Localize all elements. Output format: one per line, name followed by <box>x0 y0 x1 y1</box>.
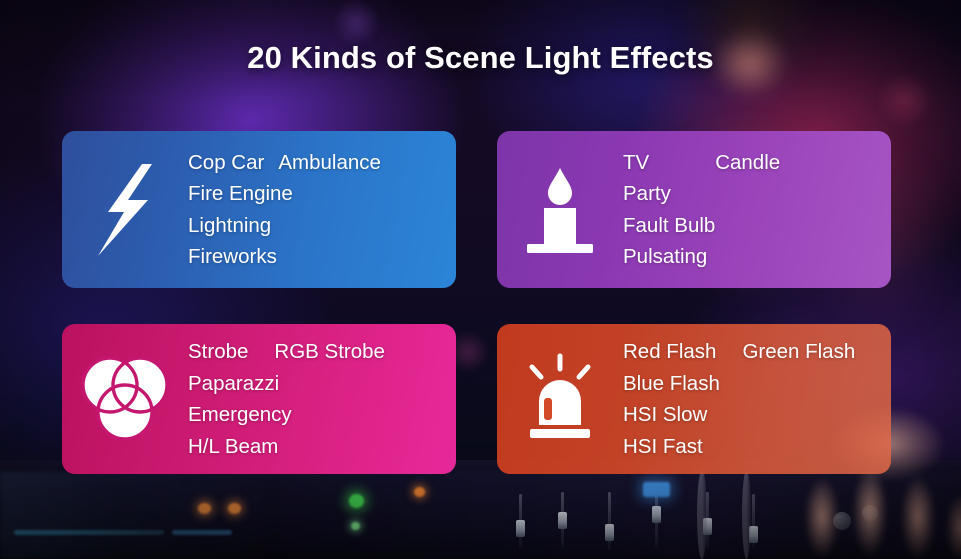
effect-label: RGB Strobe <box>274 336 385 368</box>
effects-list: Cop CarAmbulanceFire EngineLightningFire… <box>188 147 456 273</box>
effect-label: Fault Bulb <box>623 210 715 242</box>
effect-row: Fireworks <box>188 241 446 273</box>
rgb-circles-icon <box>62 354 188 444</box>
effect-row: Pulsating <box>623 241 881 273</box>
effect-label: H/L Beam <box>188 431 278 463</box>
effect-row: HSI Slow <box>623 399 881 431</box>
effect-label: HSI Slow <box>623 399 707 431</box>
effect-row: Paparazzi <box>188 368 446 400</box>
effect-row: Fire Engine <box>188 178 446 210</box>
card-strobe-effects[interactable]: StrobeRGB StrobePaparazziEmergencyH/L Be… <box>62 324 456 474</box>
effect-label: HSI Fast <box>623 431 703 463</box>
promo-banner: 20 Kinds of Scene Light Effects Cop CarA… <box>0 0 961 559</box>
effect-label: Fireworks <box>188 241 277 273</box>
effect-label: Party <box>623 178 671 210</box>
effect-label: Paparazzi <box>188 368 279 400</box>
effect-label: Red Flash <box>623 336 716 368</box>
effects-list: TVCandlePartyFault BulbPulsating <box>623 147 891 273</box>
effect-row: Cop CarAmbulance <box>188 147 446 179</box>
card-ambient-light[interactable]: TVCandlePartyFault BulbPulsating <box>497 131 891 288</box>
effect-label: Lightning <box>188 210 271 242</box>
effects-list: Red FlashGreen FlashBlue FlashHSI SlowHS… <box>623 336 891 462</box>
effect-label: Strobe <box>188 336 248 368</box>
effect-label: Ambulance <box>278 147 381 179</box>
siren-beacon-icon <box>497 353 623 445</box>
page-title: 20 Kinds of Scene Light Effects <box>0 40 961 76</box>
effect-label: Blue Flash <box>623 368 720 400</box>
effect-label: Cop Car <box>188 147 264 179</box>
effect-row: Fault Bulb <box>623 210 881 242</box>
effect-row: Lightning <box>188 210 446 242</box>
candle-icon <box>497 164 623 256</box>
effect-row: TVCandle <box>623 147 881 179</box>
effect-label: Candle <box>715 147 780 179</box>
card-police-emergency[interactable]: Cop CarAmbulanceFire EngineLightningFire… <box>62 131 456 288</box>
effect-row: Party <box>623 178 881 210</box>
effect-row: Emergency <box>188 399 446 431</box>
effect-row: Blue Flash <box>623 368 881 400</box>
effect-label: TV <box>623 147 649 179</box>
effect-label: Pulsating <box>623 241 707 273</box>
effect-row: H/L Beam <box>188 431 446 463</box>
effect-label: Fire Engine <box>188 178 293 210</box>
effect-label: Green Flash <box>742 336 855 368</box>
effect-row: HSI Fast <box>623 431 881 463</box>
effect-row: Red FlashGreen Flash <box>623 336 881 368</box>
effect-label: Emergency <box>188 399 292 431</box>
lightning-bolt-icon <box>62 162 188 258</box>
card-color-flash[interactable]: Red FlashGreen FlashBlue FlashHSI SlowHS… <box>497 324 891 474</box>
effects-list: StrobeRGB StrobePaparazziEmergencyH/L Be… <box>188 336 456 462</box>
effect-row: StrobeRGB Strobe <box>188 336 446 368</box>
